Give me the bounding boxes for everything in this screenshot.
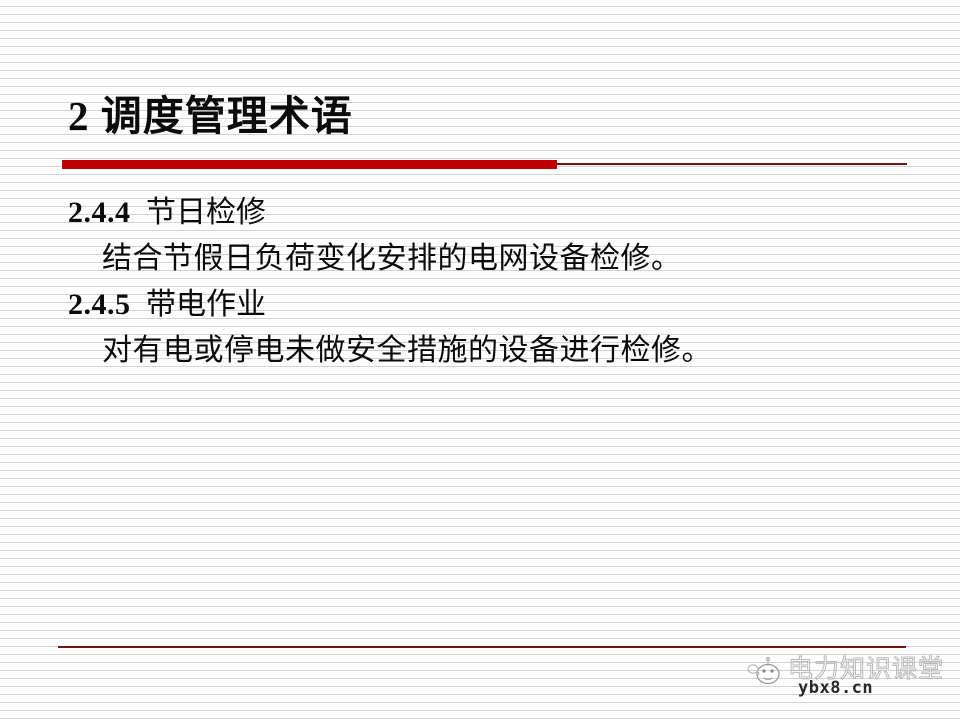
watermark-url: ybx8.cn [798,678,873,698]
slide-canvas: 2 调度管理术语 2.4.4 节日检修 结合节假日负荷变化安排的电网设备检修。 … [0,0,960,720]
mascot-circle-icon [746,656,786,690]
watermark: 电力知识课堂 ybx8.cn [740,652,955,710]
term-number: 2.4.4 [68,196,131,229]
term-heading: 2.4.5 带电作业 [68,282,898,328]
term-heading: 2.4.4 节日检修 [68,190,898,236]
term-definition: 结合节假日负荷变化安排的电网设备检修。 [68,236,898,282]
term-name: 节日检修 [138,196,266,229]
body-content: 2.4.4 节日检修 结合节假日负荷变化安排的电网设备检修。 2.4.5 带电作… [68,190,898,374]
title-area: 2 调度管理术语 [68,88,908,150]
term-number: 2.4.5 [68,288,131,321]
divider-thin-line [557,163,907,165]
term-definition: 对有电或停电未做安全措施的设备进行检修。 [68,328,898,374]
divider-thick-bar [62,160,557,169]
footer-divider [58,646,906,648]
term-name: 带电作业 [138,288,266,321]
title-divider [62,158,907,170]
page-title: 2 调度管理术语 [68,88,908,144]
